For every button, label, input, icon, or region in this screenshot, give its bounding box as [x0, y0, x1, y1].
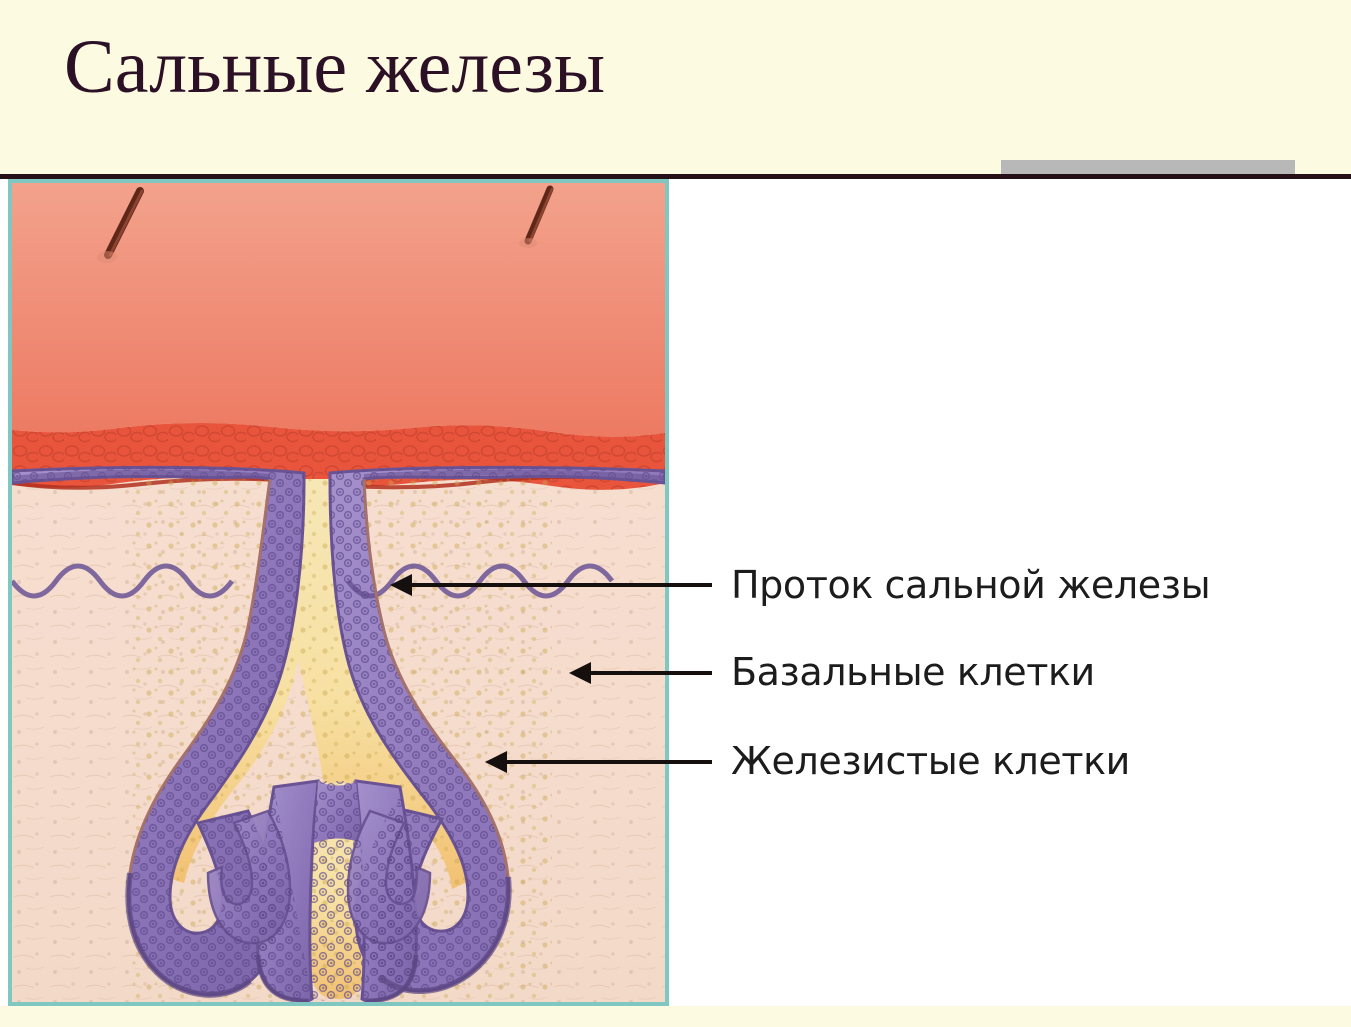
callout-label-duct: Проток сальной железы [731, 563, 1210, 607]
callout-line-basal-cells [589, 671, 712, 675]
sebaceous-gland-figure [8, 179, 669, 1006]
page-title: Сальные железы [64, 29, 605, 105]
callout-arrowhead-duct [390, 574, 412, 596]
header-accent-bar [1001, 160, 1295, 174]
callout-arrowhead-basal-cells [569, 662, 591, 684]
skin-surface-layer [12, 183, 665, 437]
callout-arrowhead-glandular-cells [485, 751, 507, 773]
callout-label-glandular-cells: Железистые клетки [731, 739, 1130, 783]
footer-band [0, 1006, 1351, 1027]
callout-label-basal-cells: Базальные клетки [731, 650, 1095, 694]
callout-line-duct [410, 583, 712, 587]
callout-line-glandular-cells [505, 760, 712, 764]
sebaceous-gland-illustration [12, 183, 665, 1002]
slide-canvas: Сальные железы [0, 0, 1351, 1027]
